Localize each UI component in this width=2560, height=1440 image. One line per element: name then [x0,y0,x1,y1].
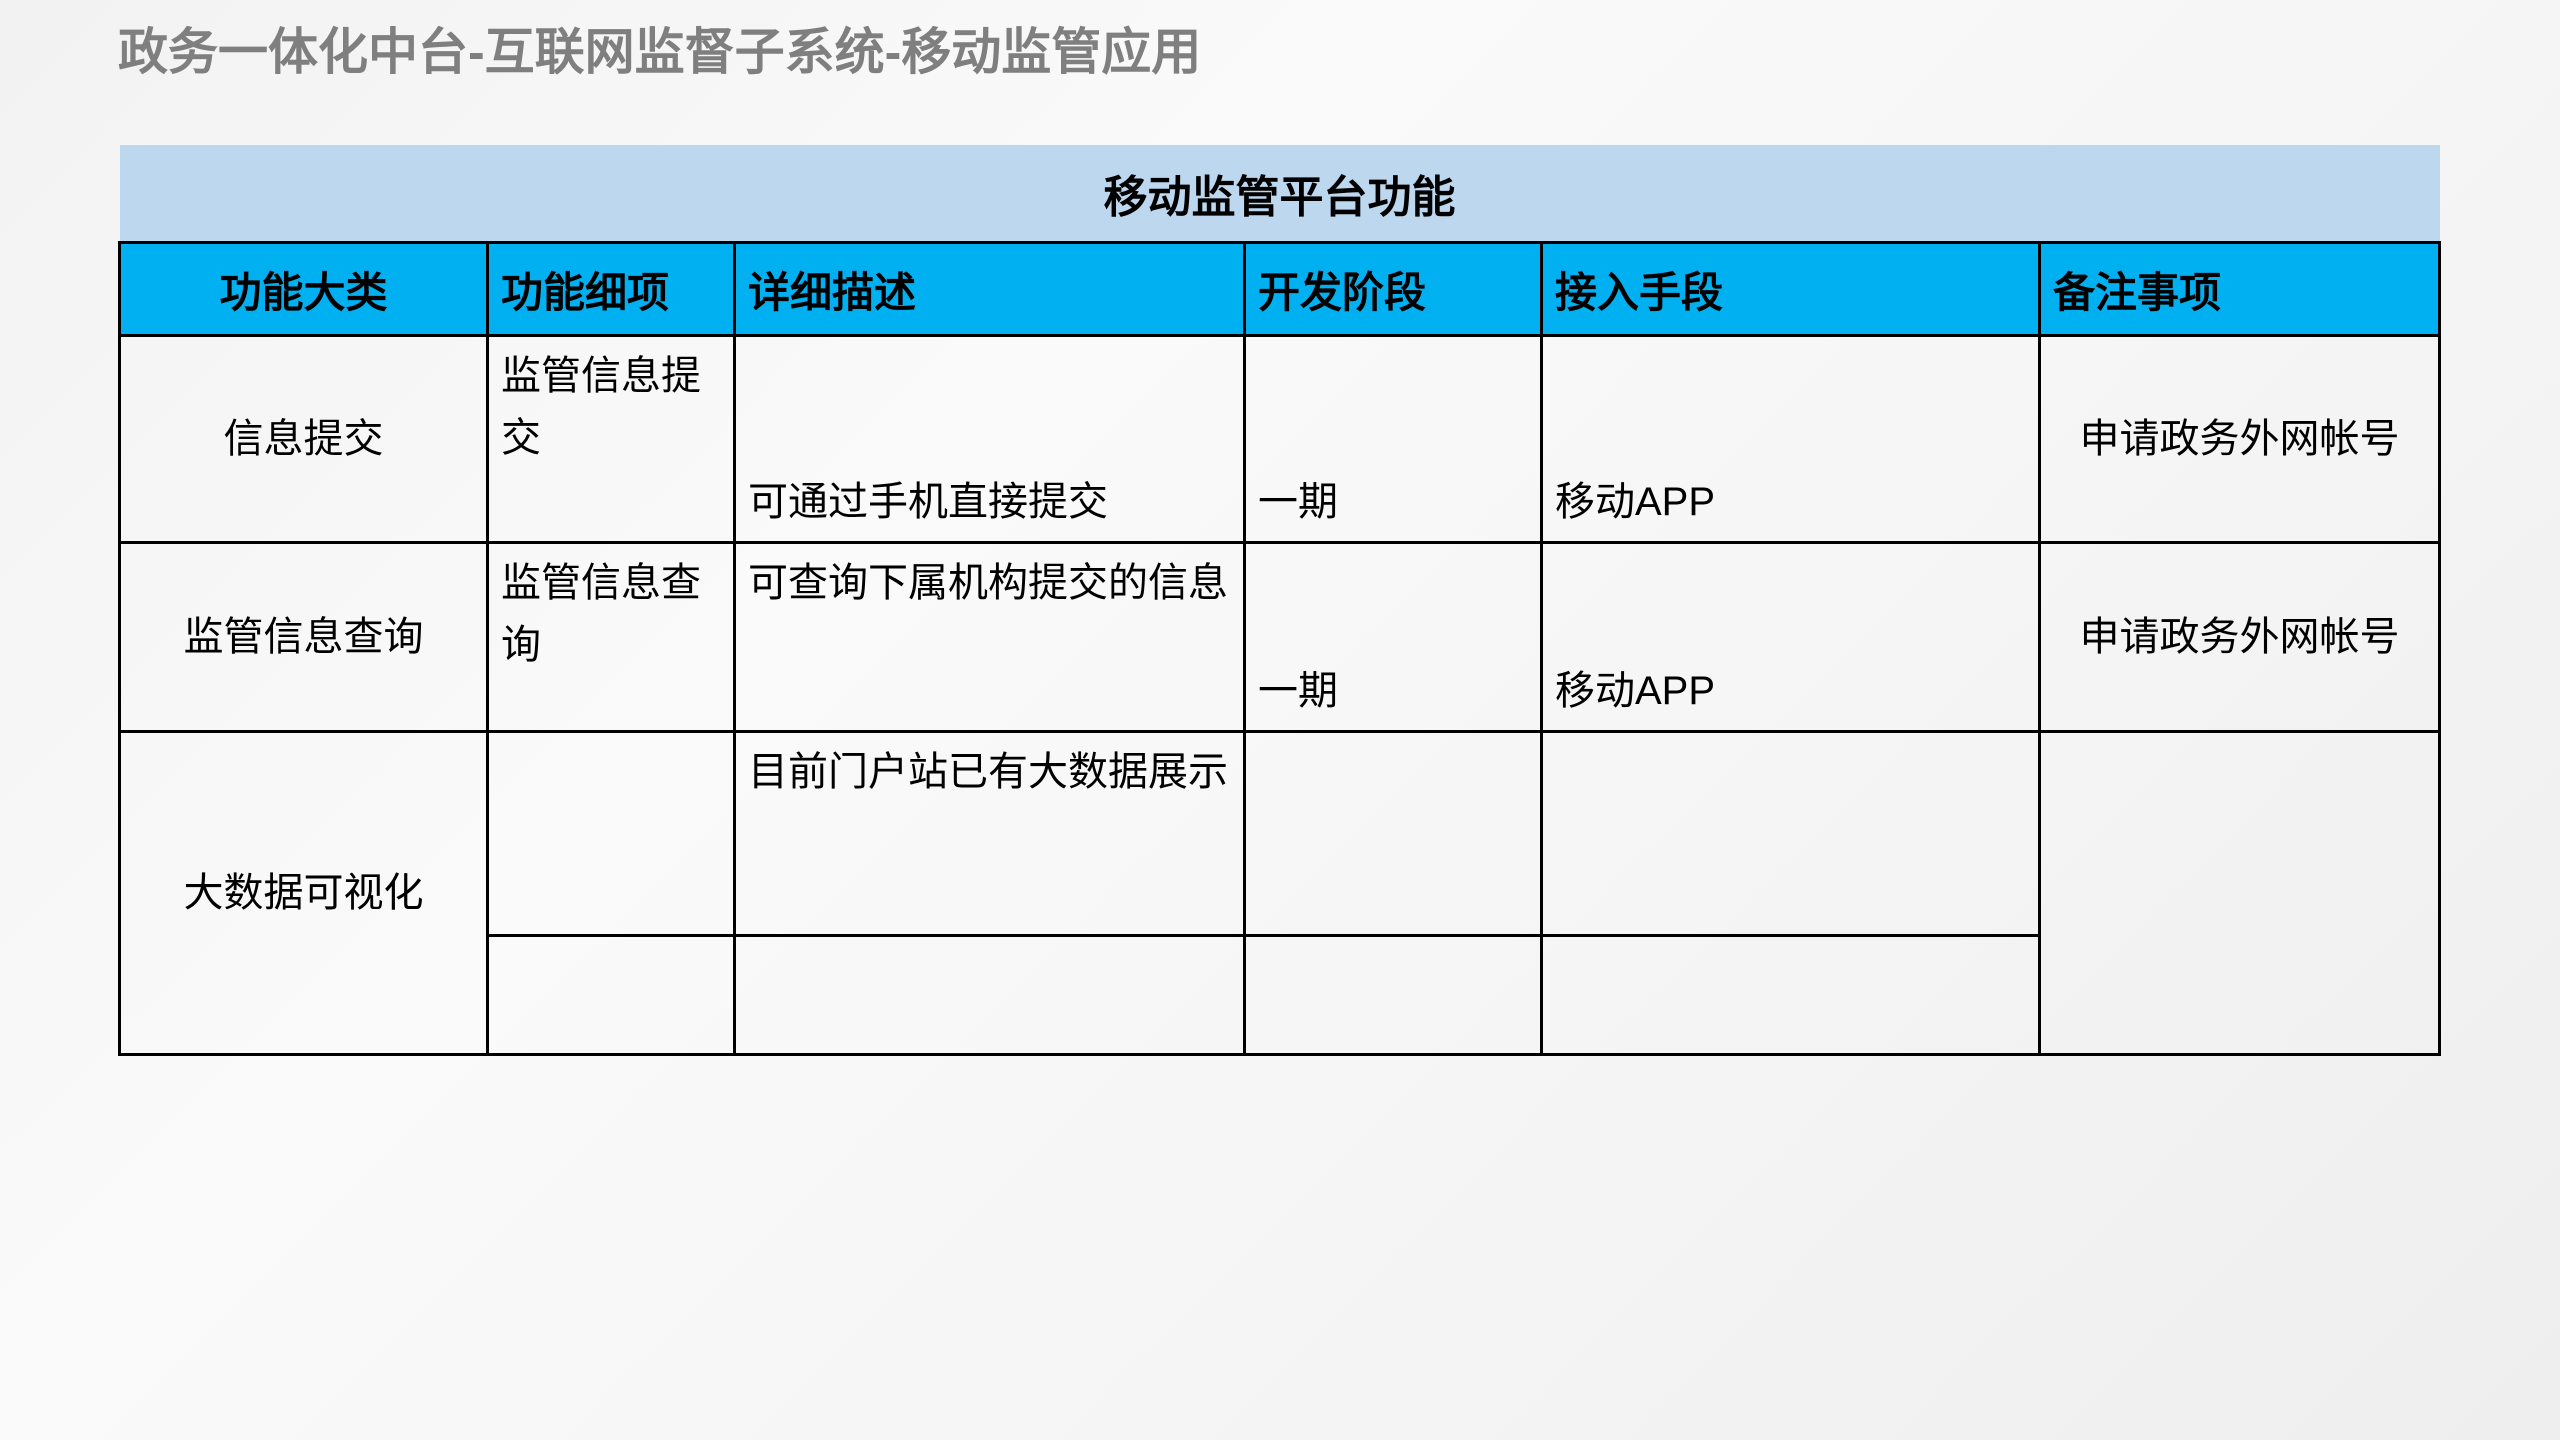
cell-category: 监管信息查询 [120,543,488,732]
cell-description [735,936,1245,1055]
column-header-remark: 备注事项 [2040,243,2440,336]
table-caption-row: 移动监管平台功能 [120,145,2440,243]
cell-access: 移动APP [1542,543,2040,732]
cell-category: 大数据可视化 [120,732,488,1055]
column-header-item: 功能细项 [488,243,735,336]
column-header-description: 详细描述 [735,243,1245,336]
cell-category: 信息提交 [120,336,488,543]
cell-phase [1245,732,1542,936]
cell-phase: 一期 [1245,336,1542,543]
column-header-phase: 开发阶段 [1245,243,1542,336]
column-header-category: 功能大类 [120,243,488,336]
cell-description: 可通过手机直接提交 [735,336,1245,543]
cell-access: 移动APP [1542,336,2040,543]
cell-access [1542,936,2040,1055]
cell-item: 监管信息查询 [488,543,735,732]
cell-item [488,732,735,936]
column-header-access: 接入手段 [1542,243,2040,336]
functions-table-container: 移动监管平台功能 功能大类 功能细项 详细描述 开发阶段 接入手段 备注事项 信… [118,145,2438,1056]
cell-description: 可查询下属机构提交的信息 [735,543,1245,732]
table-row: 大数据可视化 目前门户站已有大数据展示 [120,732,2440,936]
cell-remark [2040,732,2440,1055]
table-row: 监管信息查询 监管信息查询 可查询下属机构提交的信息 一期 移动APP 申请政务… [120,543,2440,732]
cell-phase [1245,936,1542,1055]
cell-remark: 申请政务外网帐号 [2040,543,2440,732]
mobile-supervision-functions-table: 移动监管平台功能 功能大类 功能细项 详细描述 开发阶段 接入手段 备注事项 信… [118,145,2441,1056]
page-title: 政务一体化中台-互联网监督子系统-移动监管应用 [118,8,2418,88]
table-header-row: 功能大类 功能细项 详细描述 开发阶段 接入手段 备注事项 [120,243,2440,336]
cell-remark: 申请政务外网帐号 [2040,336,2440,543]
cell-description: 目前门户站已有大数据展示 [735,732,1245,936]
table-row: 信息提交 监管信息提交 可通过手机直接提交 一期 移动APP 申请政务外网帐号 [120,336,2440,543]
table-caption: 移动监管平台功能 [120,145,2440,243]
cell-item [488,936,735,1055]
cell-phase: 一期 [1245,543,1542,732]
cell-item: 监管信息提交 [488,336,735,543]
cell-access [1542,732,2040,936]
